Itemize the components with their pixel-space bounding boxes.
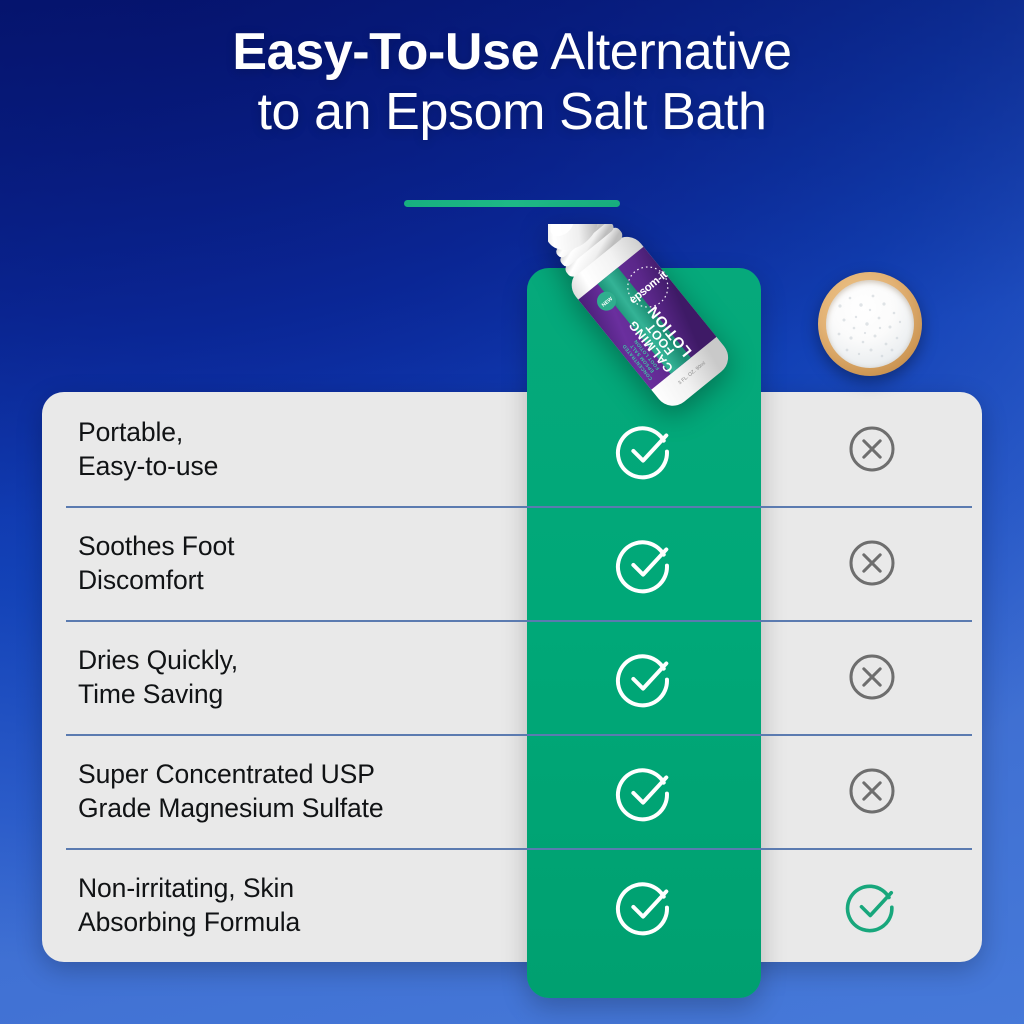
comparison-row: Non-irritating, Skin Absorbing Formula [42,848,982,962]
alternative-result-cell [762,763,982,819]
product-result-cell [528,532,762,594]
alternative-result-cell [762,877,982,933]
product-result-cell [528,646,762,708]
comparison-row: Dries Quickly, Time Saving [42,620,982,734]
feature-label: Non-irritating, Skin Absorbing Formula [42,871,528,940]
cross-circle-icon [844,421,900,477]
comparison-row: Super Concentrated USP Grade Magnesium S… [42,734,982,848]
check-circle-icon [844,877,900,933]
feature-label: Dries Quickly, Time Saving [42,643,528,712]
product-result-cell [528,874,762,936]
cross-circle-icon [844,763,900,819]
feature-label: Super Concentrated USP Grade Magnesium S… [42,757,528,826]
alternative-result-cell [762,421,982,477]
row-divider [66,506,972,508]
check-circle-icon [614,418,676,480]
check-circle-icon [614,532,676,594]
comparison-rows: Portable, Easy-to-use Soothes Foot Disco… [0,0,1024,1024]
check-circle-icon [614,760,676,822]
comparison-row: Portable, Easy-to-use [42,392,982,506]
row-divider [66,848,972,850]
row-divider [66,734,972,736]
check-circle-icon [614,874,676,936]
product-bottle-image: epsom-it NEW CALMING FOOT LOTION CONCENT… [548,224,748,414]
comparison-row: Soothes Foot Discomfort [42,506,982,620]
row-divider [66,620,972,622]
product-result-cell [528,418,762,480]
alternative-result-cell [762,649,982,705]
cross-circle-icon [844,649,900,705]
feature-label: Soothes Foot Discomfort [42,529,528,598]
cross-circle-icon [844,535,900,591]
check-circle-icon [614,646,676,708]
feature-label: Portable, Easy-to-use [42,415,528,484]
product-result-cell [528,760,762,822]
alternative-result-cell [762,535,982,591]
